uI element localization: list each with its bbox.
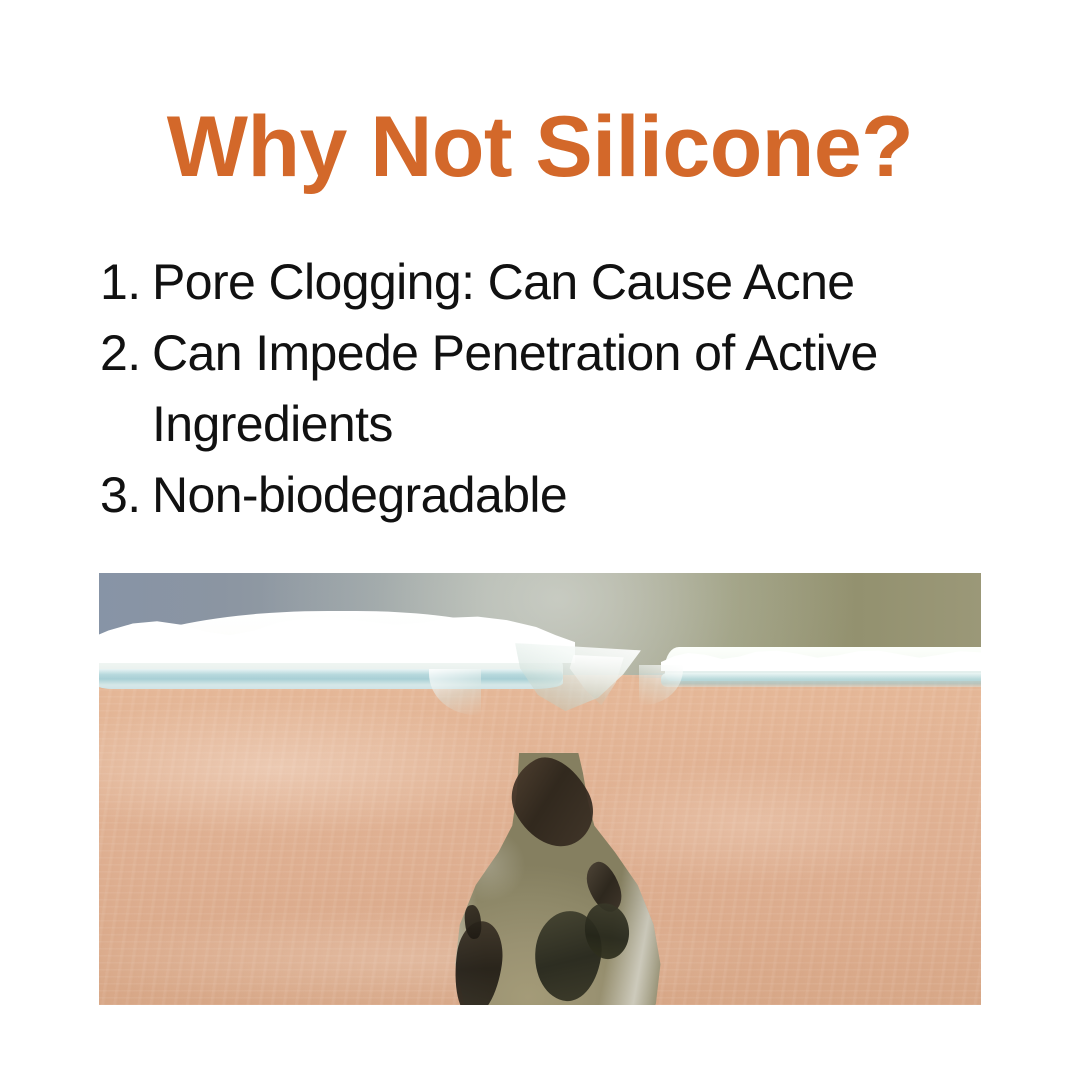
list-item: 3. Non-biodegradable	[100, 460, 1020, 531]
list-item-label: Pore Clogging: Can Cause Acne	[152, 247, 992, 318]
reasons-list: 1. Pore Clogging: Can Cause Acne 2. Can …	[100, 247, 1020, 531]
silicone-film-left-underside	[99, 669, 563, 685]
list-item-number: 2.	[100, 318, 152, 389]
silicone-film-right-underside	[661, 673, 981, 687]
page-title: Why Not Silicone?	[0, 104, 1080, 190]
list-item: 1. Pore Clogging: Can Cause Acne	[100, 247, 1020, 318]
list-item-label: Non-biodegradable	[152, 460, 992, 531]
skin-layer	[99, 675, 981, 1005]
list-item-label: Can Impede Penetration of Active Ingredi…	[152, 318, 992, 460]
list-item-number: 1.	[100, 247, 152, 318]
clogged-pore	[437, 753, 665, 1005]
pore-clogging-illustration	[99, 573, 981, 1005]
list-item: 2. Can Impede Penetration of Active Ingr…	[100, 318, 1020, 460]
infographic-root: Why Not Silicone? 1. Pore Clogging: Can …	[0, 0, 1080, 1080]
list-item-number: 3.	[100, 460, 152, 531]
